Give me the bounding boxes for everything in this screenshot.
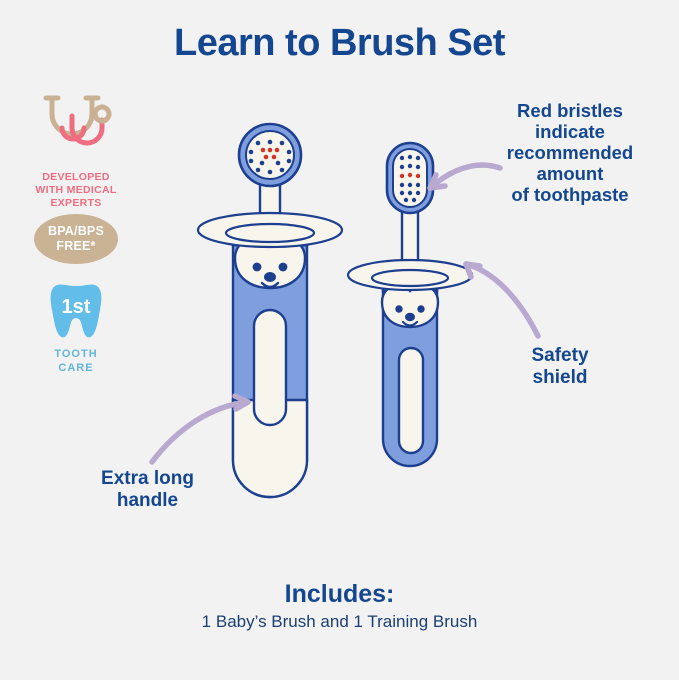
safety-shield-left: [198, 213, 342, 247]
tooth-badge-caption: TOOTH CARE: [12, 347, 140, 375]
bpa-label: BPA/BPS FREE*: [48, 224, 104, 254]
callout-line-1: Extra long: [60, 468, 235, 490]
badge-caption-line-1: DEVELOPED: [12, 171, 140, 184]
badge-caption-line-2: WITH MEDICAL: [12, 184, 140, 197]
includes-detail: 1 Baby’s Brush and 1 Training Brush: [0, 612, 679, 632]
badge-caption-line-3: EXPERTS: [12, 197, 140, 210]
callout-line-2: indicate: [470, 121, 670, 142]
badge-caption: DEVELOPED WITH MEDICAL EXPERTS: [12, 171, 140, 210]
brush-training: [348, 143, 472, 466]
page-title: Learn to Brush Set: [0, 22, 679, 65]
tooth-badge-number: 1st: [48, 296, 104, 319]
callout-line-5: of toothpaste: [470, 184, 670, 205]
callout-line-1: Red bristles: [470, 100, 670, 121]
brush-head-circle: [239, 124, 301, 186]
callout-line-4: amount: [470, 163, 670, 184]
brush-head-oval: [387, 143, 433, 213]
callout-line-2: shield: [495, 367, 625, 389]
callout-line-3: recommended: [470, 142, 670, 163]
callout-line-2: handle: [60, 490, 235, 512]
tooth-icon: [48, 329, 104, 346]
brush-babys: [198, 124, 342, 497]
stethoscope-icon: [38, 147, 114, 164]
badge-first-tooth-care: 1st TOOTH CARE: [12, 282, 140, 375]
callout-line-1: Safety: [495, 345, 625, 367]
bpa-label-line-2: FREE*: [56, 239, 95, 253]
bpa-label-line-1: BPA/BPS: [48, 224, 104, 238]
tooth-caption-line-1: TOOTH: [12, 347, 140, 361]
infographic-canvas: Learn to Brush Set DEVELOPED WITH MEDICA…: [0, 0, 679, 680]
badge-developed-with-medical-experts: DEVELOPED WITH MEDICAL EXPERTS: [12, 92, 140, 210]
callout-safety-shield: Safety shield: [495, 345, 625, 389]
badge-bpa-bps-free: BPA/BPS FREE*: [12, 214, 140, 264]
bpa-ellipse-shape: BPA/BPS FREE*: [34, 214, 118, 264]
safety-shield-right: [348, 260, 472, 290]
callout-extra-long-handle: Extra long handle: [60, 468, 235, 512]
callout-red-bristles: Red bristles indicate recommended amount…: [470, 100, 670, 205]
includes-title: Includes:: [0, 580, 679, 609]
includes-section: Includes: 1 Baby’s Brush and 1 Training …: [0, 580, 679, 632]
tooth-caption-line-2: CARE: [12, 361, 140, 375]
